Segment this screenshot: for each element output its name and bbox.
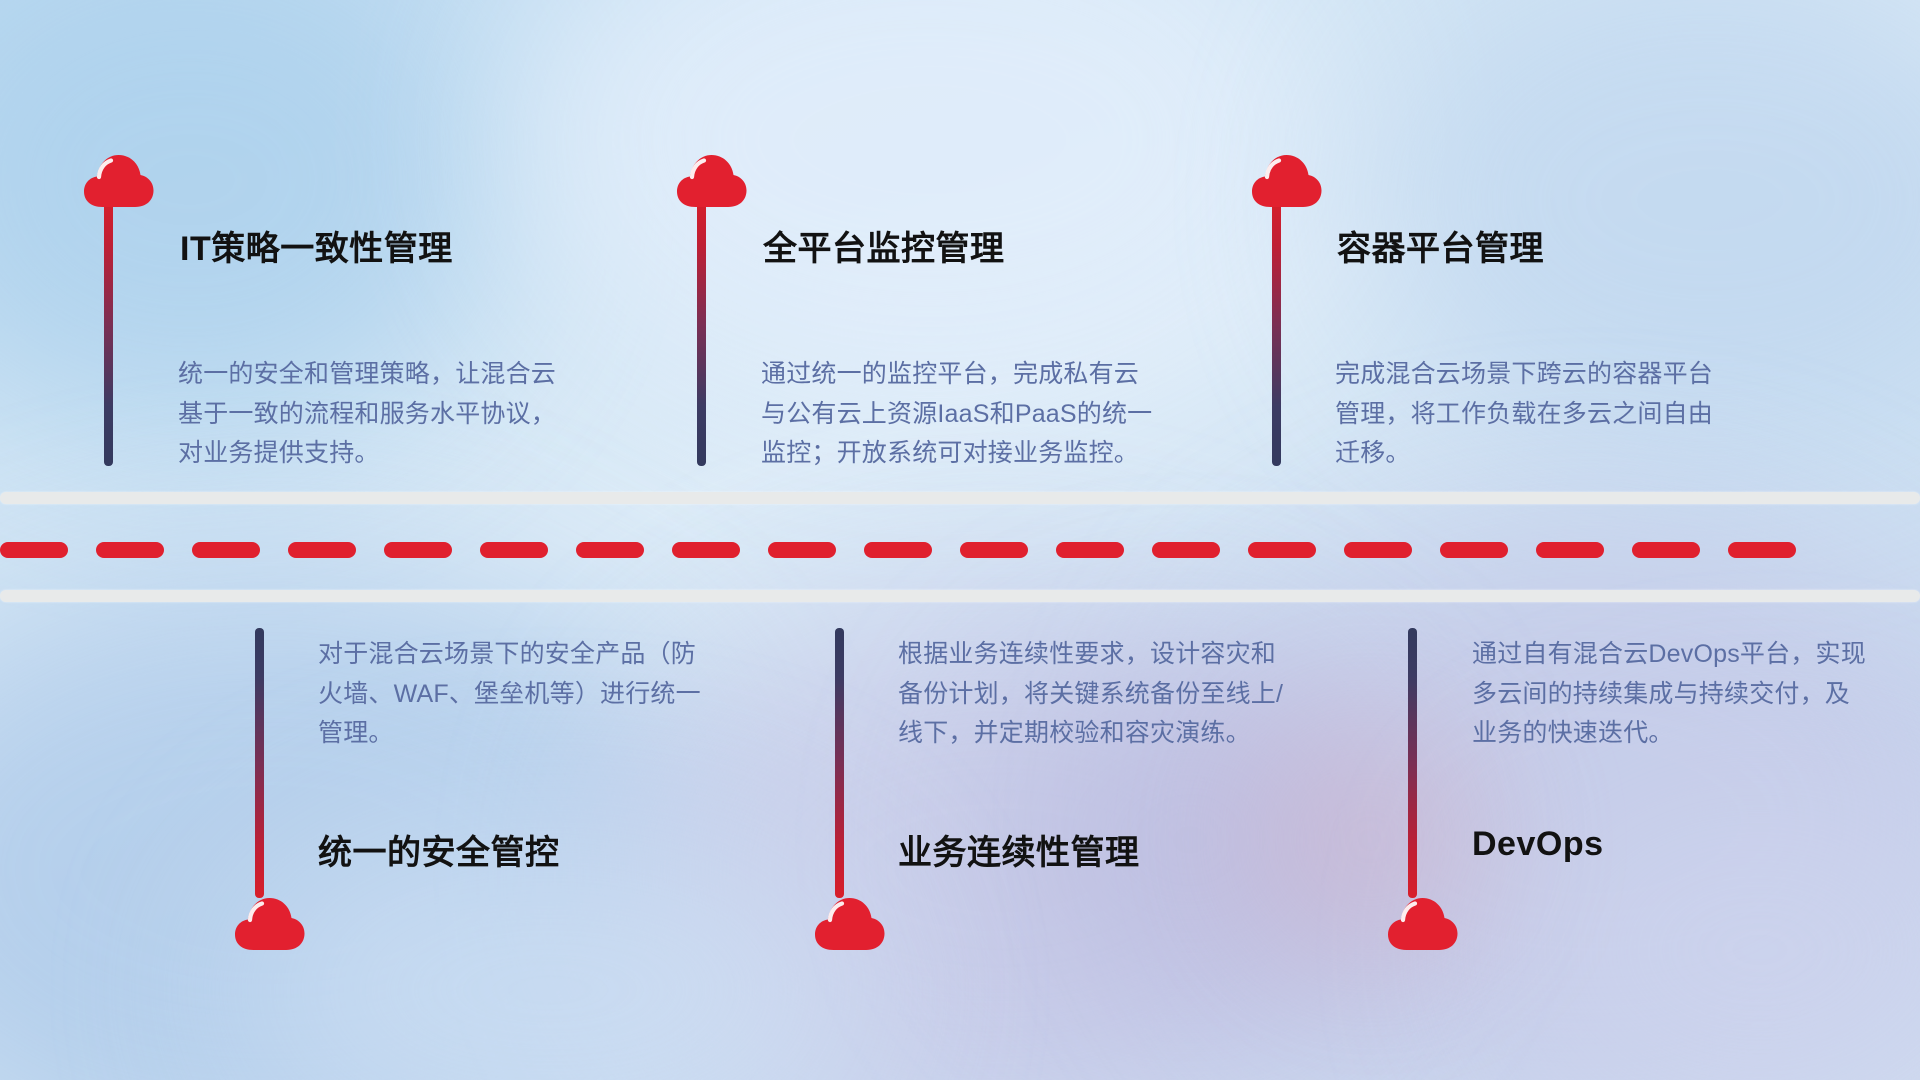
road-dash-segment — [768, 542, 836, 558]
road-dash-segment — [1248, 542, 1316, 558]
road-dash-segment — [672, 542, 740, 558]
road-dash-segment — [1056, 542, 1124, 558]
road-dash-segment — [480, 542, 548, 558]
road-dash-segment — [1440, 542, 1508, 558]
road-edge-line-top — [0, 492, 1920, 504]
marker-title: DevOps — [1472, 825, 1604, 864]
road-dash-segment — [864, 542, 932, 558]
road-center-dashes — [0, 542, 1920, 558]
marker-title: 业务连续性管理 — [898, 825, 1140, 874]
marker-stem — [697, 196, 706, 466]
road-dash-segment — [1728, 542, 1796, 558]
road-dash-segment — [576, 542, 644, 558]
road-dash-segment — [0, 542, 68, 558]
marker-title: IT策略一致性管理 — [180, 221, 453, 270]
cloud-icon — [82, 152, 156, 208]
road-dash-segment — [384, 542, 452, 558]
road-dash-segment — [1632, 542, 1700, 558]
marker-stem — [255, 628, 264, 898]
road-dash-segment — [1536, 542, 1604, 558]
marker-title: 统一的安全管控 — [318, 825, 560, 874]
marker-stem — [104, 196, 113, 466]
marker-description: 通过自有混合云DevOps平台，实现多云间的持续集成与持续交付，及业务的快速迭代… — [1472, 635, 1872, 754]
cloud-icon — [1386, 895, 1460, 951]
road-dash-segment — [288, 542, 356, 558]
marker-description: 统一的安全和管理策略，让混合云基于一致的流程和服务水平协议，对业务提供支持。 — [178, 355, 578, 474]
cloud-icon — [813, 895, 887, 951]
marker-stem — [1272, 196, 1281, 466]
infographic-canvas: IT策略一致性管理 统一的安全和管理策略，让混合云基于一致的流程和服务水平协议，… — [0, 0, 1920, 1080]
marker-title: 容器平台管理 — [1337, 221, 1544, 270]
marker-description: 根据业务连续性要求，设计容灾和备份计划，将关键系统备份至线上/线下，并定期校验和… — [898, 635, 1298, 754]
cloud-icon — [233, 895, 307, 951]
marker-stem — [835, 628, 844, 898]
cloud-icon — [1250, 152, 1324, 208]
marker-description: 完成混合云场景下跨云的容器平台管理，将工作负载在多云之间自由迁移。 — [1335, 355, 1735, 474]
cloud-icon — [675, 152, 749, 208]
marker-title: 全平台监控管理 — [763, 221, 1005, 270]
road-dash-segment — [1344, 542, 1412, 558]
road-dash-segment — [192, 542, 260, 558]
road-edge-line-bottom — [0, 590, 1920, 602]
road-dash-segment — [1152, 542, 1220, 558]
marker-stem — [1408, 628, 1417, 898]
road-dash-segment — [960, 542, 1028, 558]
road-dash-segment — [96, 542, 164, 558]
marker-description: 对于混合云场景下的安全产品（防火墙、WAF、堡垒机等）进行统一管理。 — [318, 635, 718, 754]
marker-description: 通过统一的监控平台，完成私有云与公有云上资源IaaS和PaaS的统一监控；开放系… — [761, 355, 1161, 474]
